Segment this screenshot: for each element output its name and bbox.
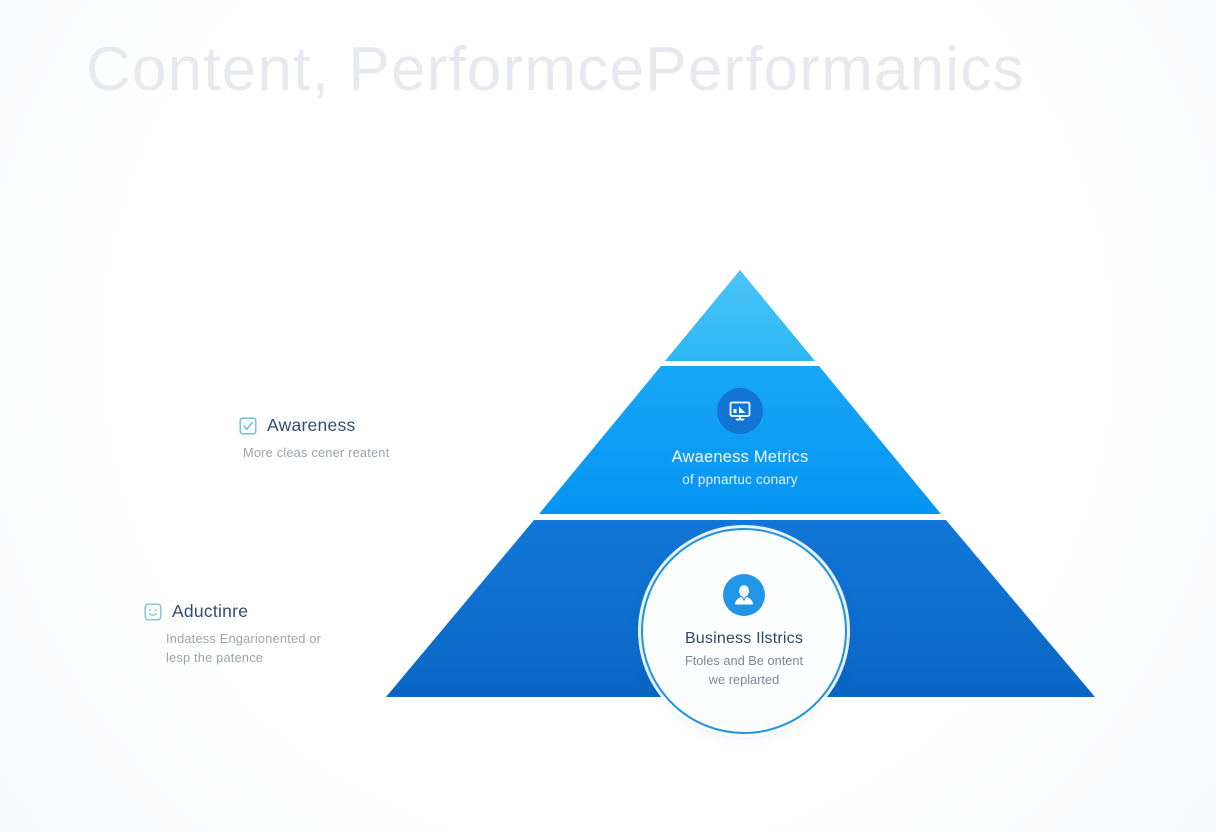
- business-metrics-sublabel: Ftoles and Be ontent we replarted: [659, 652, 829, 689]
- annotation-aductinre-sublabel-line2: lesp the patence: [166, 648, 321, 667]
- business-metrics-label: Business Ilstrics: [685, 630, 803, 648]
- annotation-awareness-sublabel: More cleas cener reatent: [243, 443, 389, 462]
- annotation-awareness[interactable]: Awareness More cleas cener reatent: [239, 415, 389, 462]
- business-metrics-sublabel-line2: we replarted: [659, 671, 829, 690]
- annotation-awareness-head: Awareness: [239, 415, 389, 436]
- business-metrics-sublabel-line1: Ftoles and Be ontent: [659, 652, 829, 671]
- pyramid-tier-top[interactable]: [665, 270, 815, 361]
- pyramid-tier-middle-label: Awaeness Metrics: [600, 448, 880, 467]
- face-box-icon[interactable]: [144, 603, 162, 621]
- presentation-chart-icon: [717, 388, 763, 434]
- pyramid-tier-middle-sublabel: of ppnartuc conary: [600, 472, 880, 487]
- business-metrics-circle[interactable]: Business Ilstrics Ftoles and Be ontent w…: [641, 528, 847, 734]
- annotation-aductinre[interactable]: Aductinre Indatess Engarionented or lesp…: [144, 601, 321, 667]
- annotation-aductinre-label: Aductinre: [172, 601, 248, 622]
- annotation-aductinre-sublabel: Indatess Engarionented or lesp the paten…: [166, 629, 321, 667]
- user-person-icon: [723, 574, 765, 616]
- annotation-awareness-sublabel-line1: More cleas cener reatent: [243, 443, 389, 462]
- annotation-aductinre-sublabel-line1: Indatess Engarionented or: [166, 629, 321, 648]
- slide-canvas: Content, PerformcePerformanics: [0, 0, 1216, 832]
- checkbox-checked-icon[interactable]: [239, 417, 257, 435]
- annotation-awareness-label: Awareness: [267, 415, 356, 436]
- annotation-aductinre-head: Aductinre: [144, 601, 321, 622]
- page-title: Content, PerformcePerformanics: [86, 34, 1166, 105]
- pyramid-tier-middle-content: Awaeness Metrics of ppnartuc conary: [600, 388, 880, 487]
